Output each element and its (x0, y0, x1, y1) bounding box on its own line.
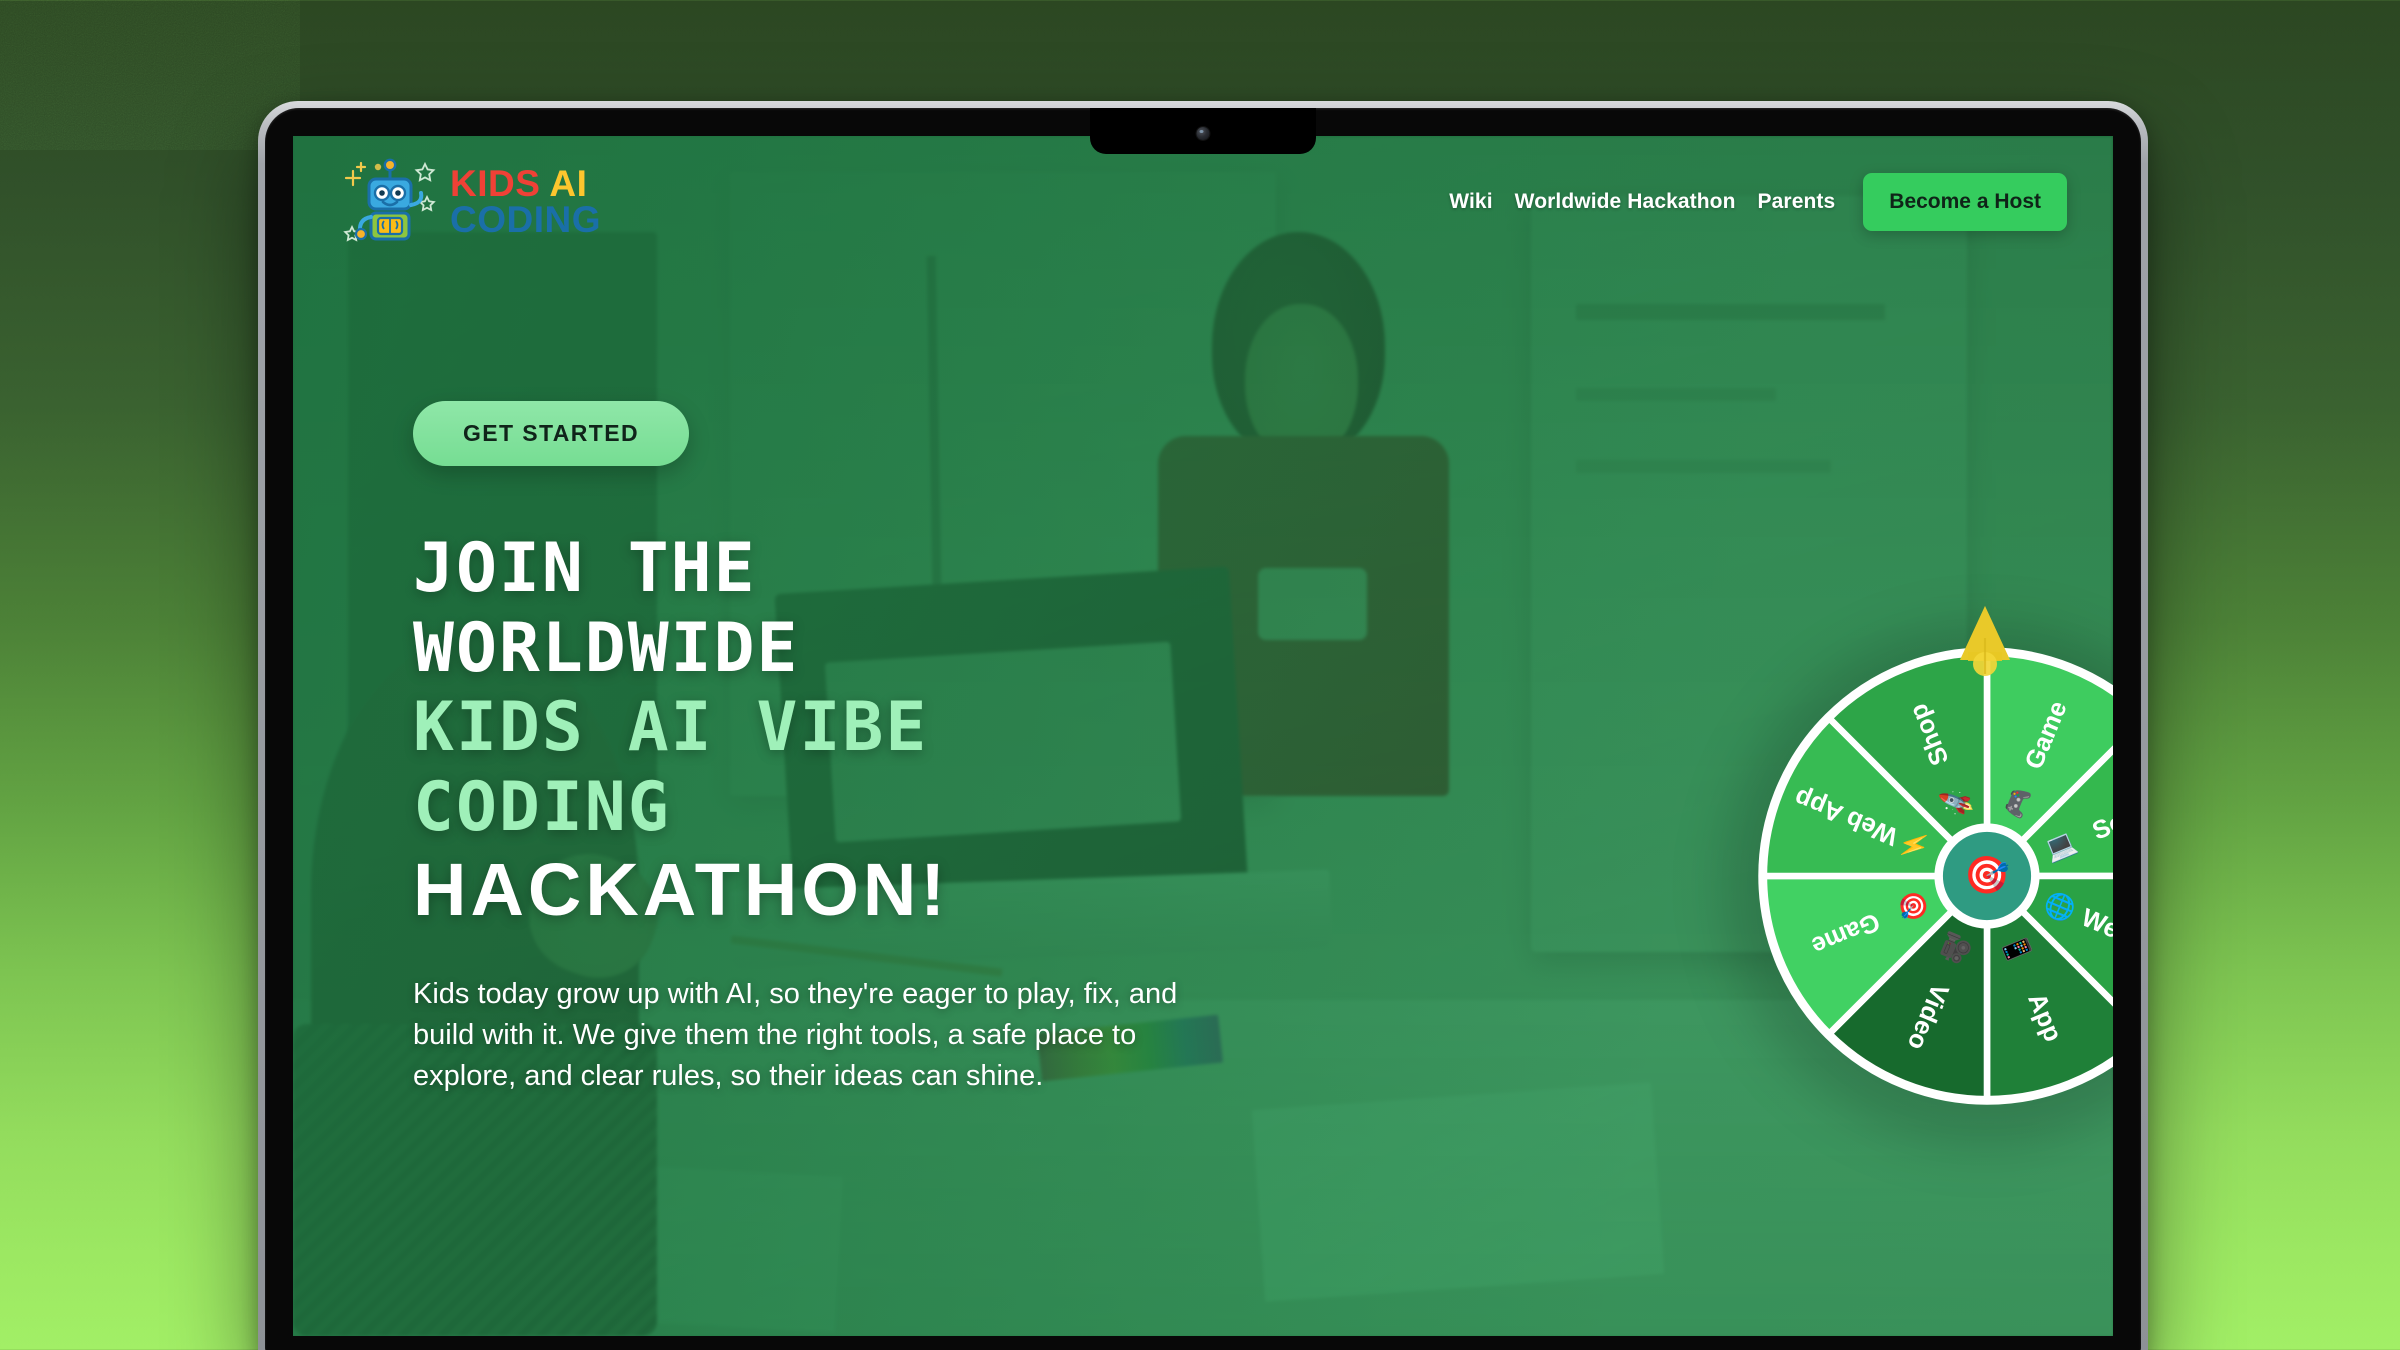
nav-link-wiki[interactable]: Wiki (1449, 190, 1492, 214)
headline-line-4: CODING (413, 768, 1293, 848)
wheel-graphic[interactable]: 🎮Game💻Social🌐Website📱App🎥Video🎯Game⚡Web … (1755, 644, 2113, 1108)
background-grain-texture (0, 0, 300, 150)
nav-link-parents[interactable]: Parents (1758, 190, 1836, 214)
logo-text-coding: CODING (450, 199, 601, 240)
triangle-pointer-icon (1955, 602, 2015, 676)
laptop-mockup: KIDSAI CODING Wiki Worldwide Hackathon P… (258, 101, 2148, 1350)
headline-line-5: HACKATHON! (413, 847, 1293, 934)
robot-mascot-icon (341, 155, 437, 249)
get-started-button[interactable]: GET STARTED (413, 401, 689, 466)
logo-wordmark: KIDSAI CODING (450, 166, 601, 237)
headline-line-3: KIDS AI VIBE (413, 688, 1293, 768)
headline-line-2: WORLDWIDE (413, 609, 1293, 689)
laptop-notch (1090, 108, 1316, 154)
site-header: KIDSAI CODING Wiki Worldwide Hackathon P… (293, 136, 2113, 268)
main-navigation: Wiki Worldwide Hackathon Parents Become … (1449, 173, 2067, 231)
hero-content: GET STARTED JOIN THE WORLDWIDE KIDS AI V… (413, 401, 1293, 1097)
site-logo[interactable]: KIDSAI CODING (341, 155, 601, 249)
laptop-bezel: KIDSAI CODING Wiki Worldwide Hackathon P… (265, 108, 2141, 1350)
spin-wheel[interactable]: 🎮Game💻Social🌐Website📱App🎥Video🎯Game⚡Web … (1705, 596, 2113, 1156)
browser-viewport: KIDSAI CODING Wiki Worldwide Hackathon P… (293, 136, 2113, 1336)
dart-target-icon: 🎯 (1964, 855, 2010, 896)
hero-headline: JOIN THE WORLDWIDE KIDS AI VIBE CODING H… (413, 529, 1293, 934)
hero-paragraph: Kids today grow up with AI, so they're e… (413, 974, 1213, 1098)
become-a-host-button[interactable]: Become a Host (1863, 173, 2067, 231)
headline-line-1: JOIN THE (413, 529, 1293, 609)
nav-link-worldwide-hackathon[interactable]: Worldwide Hackathon (1515, 190, 1736, 214)
webcam-icon (1197, 127, 1210, 140)
